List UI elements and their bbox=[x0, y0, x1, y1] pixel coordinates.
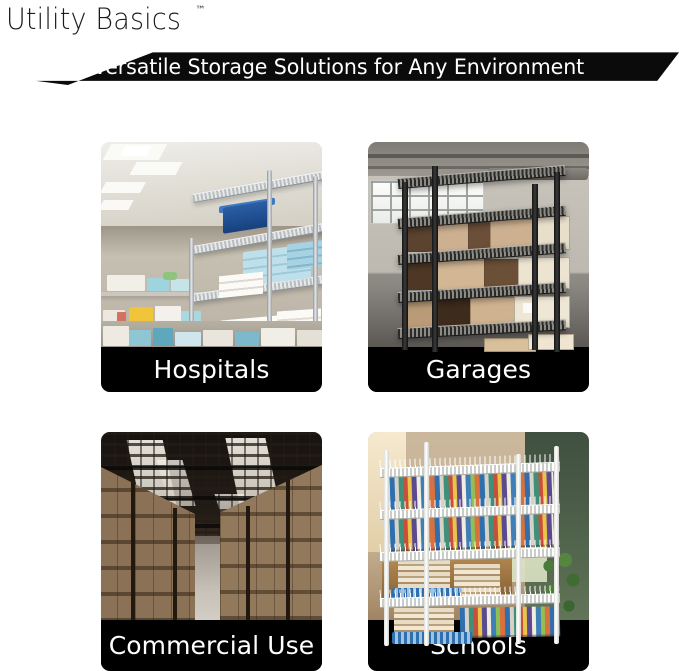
banner-headline: Versatile Storage Solutions for Any Envi… bbox=[7, 51, 672, 85]
brand-logo: Utility Basics ™ bbox=[6, 1, 205, 41]
environment-tile-grid: Hospitals Garages bbox=[101, 142, 589, 671]
trademark-symbol: ™ bbox=[195, 4, 205, 18]
tile-commercial-use[interactable]: Commercial Use bbox=[101, 432, 322, 671]
tile-schools[interactable]: Schools bbox=[368, 432, 589, 671]
tile-caption-garages: Garages bbox=[368, 347, 589, 392]
tile-caption-commercial-use: Commercial Use bbox=[101, 620, 322, 671]
headline-banner: Versatile Storage Solutions for Any Envi… bbox=[0, 51, 679, 85]
tile-hospitals[interactable]: Hospitals bbox=[101, 142, 322, 392]
tile-garages[interactable]: Garages bbox=[368, 142, 589, 392]
brand-name: Utility Basics bbox=[6, 1, 181, 37]
tile-caption-hospitals: Hospitals bbox=[101, 347, 322, 392]
school-library-image bbox=[368, 432, 589, 671]
